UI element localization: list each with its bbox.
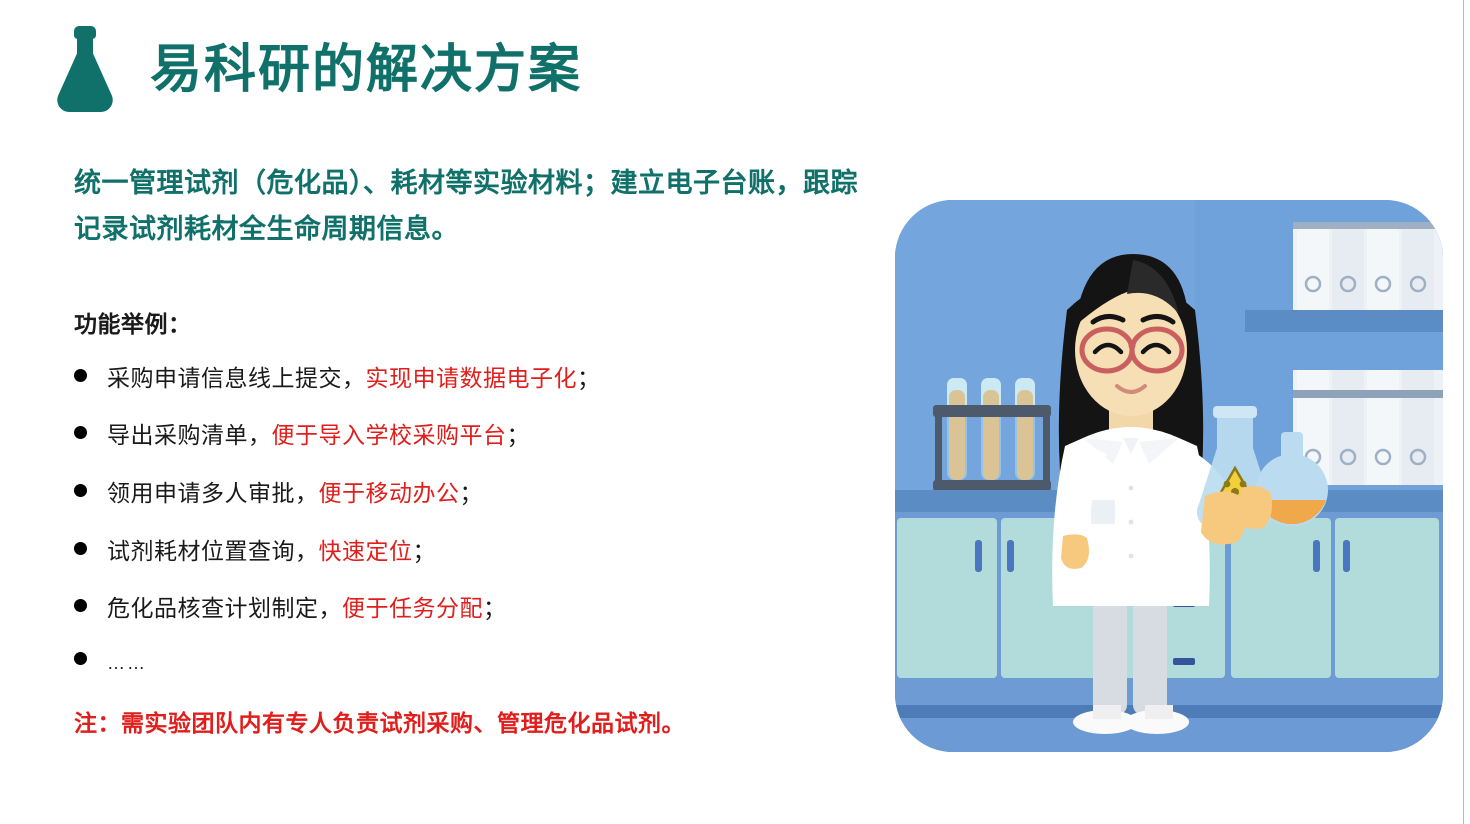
bullet-text-plain: 导出采购清单， <box>107 422 272 448</box>
bullet-text-highlight: 快速定位 <box>319 538 413 564</box>
page-title-row: 易科研的解决方案 <box>52 24 582 116</box>
list-item: 采购申请信息线上提交，实现申请数据电子化； <box>74 365 864 393</box>
bullet-text-plain: 采购申请信息线上提交， <box>107 365 366 391</box>
bullet-text-suffix: ； <box>577 365 601 391</box>
bullet-text-suffix: ； <box>507 422 531 448</box>
bullet-text: …… <box>107 653 147 675</box>
bullet-text: 危化品核查计划制定，便于任务分配； <box>107 595 507 623</box>
content-column: 统一管理试剂（危化品）、耗材等实验材料；建立电子台账，跟踪记录试剂耗材全生命周期… <box>74 160 864 738</box>
bullet-dot-icon <box>74 599 87 612</box>
list-item: …… <box>74 653 864 675</box>
page-title: 易科研的解决方案 <box>150 44 582 96</box>
bullet-text-plain: 试剂耗材位置查询， <box>107 538 319 564</box>
list-item: 导出采购清单，便于导入学校采购平台； <box>74 422 864 450</box>
bullet-dot-icon <box>74 426 87 439</box>
bullet-text: 领用申请多人审批，便于移动办公； <box>107 480 483 508</box>
bullet-dot-icon <box>74 652 87 665</box>
slide-right-border <box>1463 0 1464 824</box>
bullet-text-suffix: ； <box>413 538 437 564</box>
bullet-text-highlight: 便于移动办公 <box>319 480 460 506</box>
bullet-text: 导出采购清单，便于导入学校采购平台； <box>107 422 530 450</box>
slide-root: 易科研的解决方案 统一管理试剂（危化品）、耗材等实验材料；建立电子台账，跟踪记录… <box>0 0 1470 824</box>
footnote-text: 注：需实验团队内有专人负责试剂采购、管理危化品试剂。 <box>74 704 864 738</box>
bullet-dot-icon <box>74 542 87 555</box>
bullet-text: 采购申请信息线上提交，实现申请数据电子化； <box>107 365 601 393</box>
list-item: 领用申请多人审批，便于移动办公； <box>74 480 864 508</box>
subtitle-paragraph: 统一管理试剂（危化品）、耗材等实验材料；建立电子台账，跟踪记录试剂耗材全生命周期… <box>74 160 864 253</box>
bullet-text-highlight: 实现申请数据电子化 <box>366 365 578 391</box>
bullet-text-suffix: ； <box>460 480 484 506</box>
bullet-text: 试剂耗材位置查询，快速定位； <box>107 538 436 566</box>
flask-icon <box>52 24 118 116</box>
feature-bullet-list: 采购申请信息线上提交，实现申请数据电子化； 导出采购清单，便于导入学校采购平台；… <box>74 365 864 675</box>
list-item: 危化品核查计划制定，便于任务分配； <box>74 595 864 623</box>
bullet-text-highlight: 便于任务分配 <box>342 595 483 621</box>
bullet-text-highlight: 便于导入学校采购平台 <box>272 422 507 448</box>
lab-scientist-illustration <box>895 200 1443 752</box>
bullet-text-plain: 危化品核查计划制定， <box>107 595 342 621</box>
bullet-dot-icon <box>74 369 87 382</box>
test-tube-rack <box>933 378 1051 491</box>
list-item: 试剂耗材位置查询，快速定位； <box>74 538 864 566</box>
bullet-dot-icon <box>74 484 87 497</box>
bullet-text-plain: 领用申请多人审批， <box>107 480 319 506</box>
bullet-text-suffix: ； <box>483 595 507 621</box>
section-heading: 功能举例： <box>74 305 864 339</box>
